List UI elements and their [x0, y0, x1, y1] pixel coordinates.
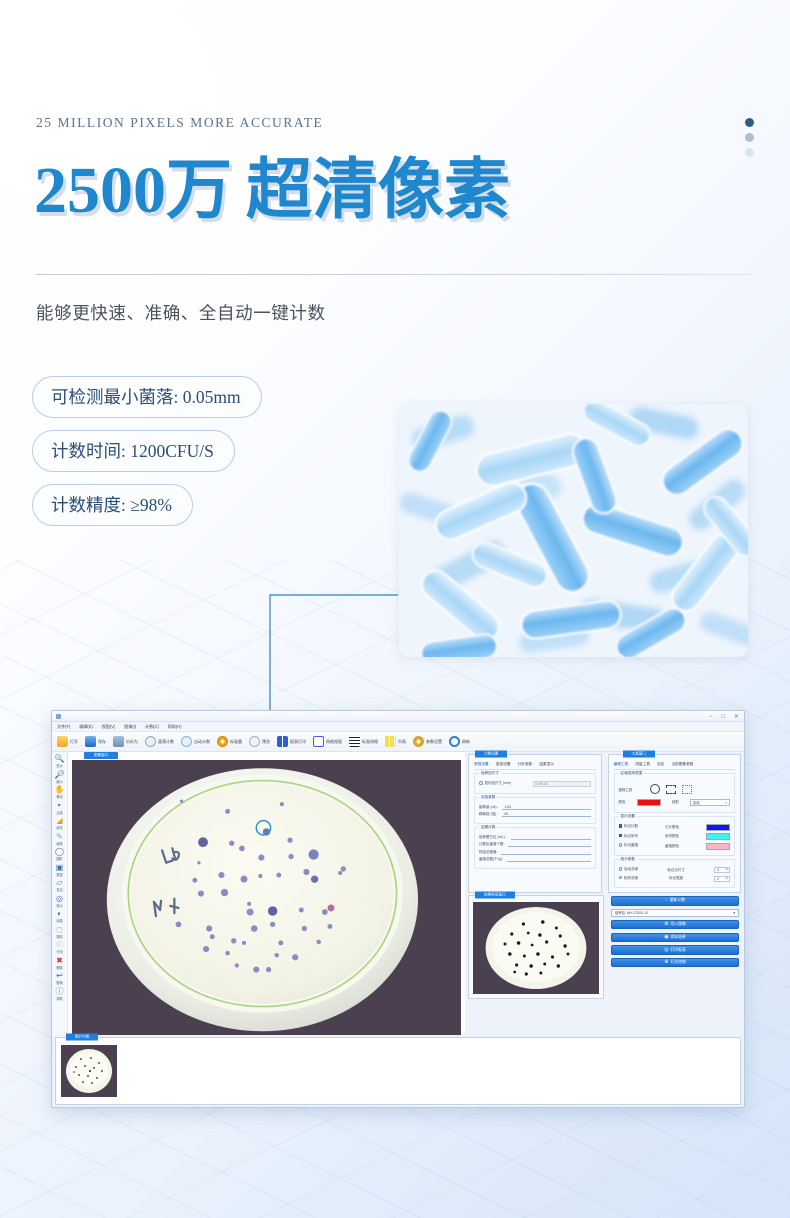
mark-size-stepper[interactable]: 3⇅ — [714, 867, 730, 873]
folder-open-icon — [57, 736, 68, 747]
save-icon: ◉ — [664, 935, 668, 940]
tool-label: 框选 — [53, 872, 67, 877]
tab-setting[interactable]: 设定 — [657, 762, 664, 767]
main-toolbar[interactable]: 打开 保存 另存为 菌落计数 自动计数 标准圆 预览 报表打印 网格视图 标准网… — [52, 732, 744, 752]
colony-zone-label: 计数区菌落个数: — [479, 842, 504, 847]
menu-item-count[interactable]: 计数(C) — [145, 724, 159, 730]
zoom-out-icon: 🔎 — [53, 771, 67, 779]
tool-help[interactable]: ⓘ帮助 — [53, 988, 67, 1001]
group-title: 培养皿尺寸 — [479, 771, 501, 776]
shape-tools[interactable] — [650, 784, 692, 794]
toolbar-label: 打开 — [70, 739, 78, 745]
line-color-label: 颜色 — [619, 800, 626, 805]
menu-item-file[interactable]: 文件(F) — [57, 724, 70, 730]
right-panel-column: 计数设置 常规设置 查找设置 分析参数 结果显示 培养皿尺寸 皿内径尺寸 (mm… — [465, 752, 744, 1035]
stepper-arrows-icon[interactable]: ⇅ — [725, 877, 728, 880]
panel-tools: 工具窗口 编辑工具 测量工具 设定 当前图像参数 区域选择范围 选择工具 — [608, 754, 742, 893]
tools-tabs[interactable]: 编辑工具 测量工具 设定 当前图像参数 — [614, 762, 736, 770]
chevron-down-icon: ▾ — [733, 911, 735, 915]
dilution-input[interactable]: 40 — [502, 812, 590, 817]
inoculation-label: 接种量 (ml) : — [479, 805, 498, 810]
stepper-arrows-icon[interactable]: ⇅ — [725, 868, 728, 871]
import-image-button[interactable]: ⚙导入图像 — [611, 920, 739, 930]
select-tool-label: 选择工具 — [619, 787, 633, 792]
settings-icon — [413, 736, 424, 747]
hand-icon: ✋ — [53, 786, 67, 794]
pencil-icon: ✎ — [53, 833, 67, 841]
panel-result-caption: 结果预览窗口 — [475, 892, 515, 899]
toolbar-button-refresh[interactable]: 刷新 — [449, 736, 470, 747]
rect-shape-icon[interactable] — [666, 785, 676, 794]
auto-denoise-option[interactable]: 自动去噪 — [619, 867, 639, 872]
feature-pill-list: 可检测最小菌落: 0.05mm 计数时间: 1200CFU/S 计数精度: ≥9… — [32, 376, 262, 538]
app-icon — [56, 714, 61, 719]
mesh-icon — [349, 736, 360, 747]
column-icon — [385, 736, 396, 747]
maximize-button[interactable]: □ — [721, 714, 725, 720]
feature-pill: 计数精度: ≥98% — [32, 484, 193, 526]
feature-pill: 可检测最小菌落: 0.05mm — [32, 376, 262, 418]
delete-icon: ✖ — [53, 957, 67, 965]
mark-index-option[interactable]: 标记序号 — [619, 834, 639, 839]
tab-analysis[interactable]: 分析参数 — [518, 762, 533, 767]
left-tool-palette[interactable]: 🔍放大 🔎缩小 ✋移动 ‣点选 ◢填充 ✎画笔 ◯圆形 ▣框选 ▱多边 ◎放大 … — [52, 752, 68, 1035]
sample-conc-label: 样品浓度值: — [479, 850, 497, 855]
toolbar-label: 参数设置 — [426, 739, 442, 745]
scan-icon: ◌ — [665, 898, 668, 903]
measure-icon: ◐ — [53, 910, 67, 918]
group-result-calc: 结果计算 培养基方位 (mL) : 计数区菌落个数: 样品浓度值: 菌落总数(个… — [474, 827, 596, 869]
processed-plate-icon — [473, 902, 599, 994]
tool-label: 测量 — [53, 918, 67, 923]
bacteria-rods-icon — [399, 404, 748, 657]
group-display-settings: 显示设置 标记计数 已计数色 标记序号 序号颜色 — [614, 816, 736, 857]
tool-label: 分割 — [53, 949, 67, 954]
print-report-button[interactable]: ◎打印报表 — [611, 945, 739, 955]
menu-bar[interactable]: 文件(F) 编辑(E) 视图(V) 图像(I) 计数(C) 帮助(H) — [52, 722, 744, 732]
preview-icon — [249, 736, 260, 747]
tool-label: 撤销 — [53, 980, 67, 985]
workspace: 🔍放大 🔎缩小 ✋移动 ‣点选 ◢填充 ✎画笔 ◯圆形 ▣框选 ▱多边 ◎放大 … — [52, 752, 744, 1035]
tool-label: 移动 — [53, 794, 67, 799]
counted-color-swatch[interactable] — [706, 824, 730, 831]
toolbar-label: 列表 — [398, 739, 406, 745]
medium-volume-label: 培养基方位 (mL) : — [479, 835, 507, 840]
dilution-label: 稀释倍 (倍) : — [479, 812, 498, 817]
grid-view-icon — [313, 736, 324, 747]
toolbar-label: 保存 — [98, 739, 106, 745]
toolbar-button-report[interactable]: 报表打印 — [277, 736, 306, 747]
medium-volume-input[interactable] — [511, 835, 591, 840]
auto-count-icon — [181, 736, 192, 747]
group-title: 区域选择范围 — [619, 771, 645, 776]
canvas-column: 图像窗口 — [68, 752, 465, 1035]
image-filmstrip[interactable]: 图片列表 — [55, 1037, 741, 1105]
checkbox-mark-index[interactable] — [619, 834, 623, 838]
header-divider — [36, 274, 752, 275]
tab-find[interactable]: 查找设置 — [496, 762, 511, 767]
group-statistics: 统计参数 自动去噪 标记点尺寸 3⇅ 相邻去噪 标记宽度 2⇅ — [614, 859, 736, 888]
headline-text: 超清像素 — [246, 154, 510, 227]
filmstrip-thumbnail[interactable] — [61, 1045, 117, 1097]
chevron-down-icon: ▾ — [725, 801, 727, 805]
group-dish-size: 培养皿尺寸 皿内径尺寸 (mm) D=90.00 — [474, 773, 596, 794]
inoculation-input[interactable]: 1.00 — [502, 805, 590, 810]
mark-count-option[interactable]: 标记计数 — [619, 824, 639, 829]
tool-label: 放大 — [53, 763, 67, 768]
action-button-stack[interactable]: ◌重新计数 培养皿: MH-CS200-10▾ ⚙导入图像 ◉保存结果 ◎打印报… — [607, 893, 743, 999]
magnify-icon: ◎ — [53, 895, 67, 903]
help-icon: ⓘ — [53, 988, 67, 996]
save-icon — [85, 736, 96, 747]
window-titlebar[interactable]: − □ ✕ — [52, 711, 744, 722]
total-colony-label: 菌落总数(个/g): — [479, 857, 503, 862]
tool-polygon[interactable]: ▱多边 — [53, 879, 67, 892]
undo-icon: ↩ — [53, 972, 67, 980]
toolbar-button-save[interactable]: 保存 — [85, 736, 106, 747]
index-color-label: 序号颜色 — [665, 834, 679, 839]
tool-zoom-in[interactable]: 🔍放大 — [53, 755, 67, 768]
toolbar-button-auto-count[interactable]: 自动计数 — [181, 736, 210, 747]
toolbar-button-standard-circle[interactable]: 标准圆 — [217, 736, 242, 747]
light-control-button[interactable]: ♛灯光控制 — [611, 958, 739, 968]
feature-pill: 计数时间: 1200CFU/S — [32, 430, 235, 472]
bulb-icon: ♛ — [664, 960, 668, 965]
tool-circle[interactable]: ◯圆形 — [53, 848, 67, 861]
tool-label: 删除 — [53, 965, 67, 970]
tool-label: 缩小 — [53, 779, 67, 784]
count-tabs[interactable]: 常规设置 查找设置 分析参数 结果显示 — [474, 762, 596, 770]
software-window[interactable]: − □ ✕ 文件(F) 编辑(E) 视图(V) 图像(I) 计数(C) 帮助(H… — [51, 710, 745, 1108]
tool-rect-select[interactable]: ▣框选 — [53, 864, 67, 877]
toolbar-label: 网格视图 — [326, 739, 342, 745]
dish-model-combo[interactable]: 培养皿: MH-CS200-10▾ — [611, 909, 739, 917]
tool-hand[interactable]: ✋移动 — [53, 786, 67, 799]
eraser-icon: ◻ — [53, 926, 67, 934]
settings-icon: ⚙ — [664, 922, 668, 927]
bacteria-illustration — [399, 404, 748, 657]
target-icon — [217, 736, 228, 747]
canvas-tab-label: 图像窗口 — [84, 752, 118, 759]
checkbox-mark-count[interactable] — [619, 824, 623, 828]
group-experiment: 实验参数 接种量 (ml) : 1.00 稀释倍 (倍) : 40 — [474, 797, 596, 824]
tool-label: 圆形 — [53, 856, 67, 861]
toolbar-label: 另存为 — [126, 739, 138, 745]
close-button[interactable]: ✕ — [734, 714, 739, 720]
tool-label: 多边 — [53, 887, 67, 892]
tab-general[interactable]: 常规设置 — [474, 762, 489, 767]
radio-adjacent-denoise[interactable] — [619, 876, 623, 880]
print-icon: ◎ — [664, 948, 668, 953]
result-preview-image[interactable] — [473, 902, 599, 994]
checkbox-mark-colony[interactable] — [619, 843, 623, 847]
point-icon: ‣ — [53, 802, 67, 810]
tool-label: 擦除 — [53, 934, 67, 939]
line-color-swatch[interactable] — [637, 799, 661, 806]
toolbar-label: 菌落计数 — [158, 739, 174, 745]
toolbar-label: 刷新 — [462, 739, 470, 745]
tool-fill[interactable]: ◢填充 — [53, 817, 67, 830]
tool-label: 填充 — [53, 825, 67, 830]
menu-item-edit[interactable]: 编辑(E) — [79, 724, 92, 730]
tool-label: 帮助 — [53, 996, 67, 1001]
report-icon — [277, 736, 288, 747]
adjacent-denoise-option[interactable]: 相邻去噪 — [619, 876, 639, 881]
tool-zoom-out[interactable]: 🔎缩小 — [53, 771, 67, 784]
tool-eraser[interactable]: ◻擦除 — [53, 926, 67, 939]
mark-width-stepper[interactable]: 2⇅ — [714, 876, 730, 882]
group-title: 实验参数 — [479, 795, 497, 800]
tool-magnify[interactable]: ◎放大 — [53, 895, 67, 908]
toolbar-button-colony-count[interactable]: 菌落计数 — [145, 736, 174, 747]
canvas-tab[interactable]: 图像窗口 — [68, 752, 465, 759]
rect-select-icon: ▣ — [53, 864, 67, 872]
toolbar-button-grid-view[interactable]: 网格视图 — [313, 736, 342, 747]
dish-diameter-value[interactable]: D=90.00 — [533, 781, 591, 787]
save-result-button[interactable]: ◉保存结果 — [611, 933, 739, 943]
line-type-select[interactable]: 实线▾ — [690, 799, 730, 806]
eyebrow-text: 25 MILLION PIXELS MORE ACCURATE — [36, 115, 323, 131]
window-controls[interactable]: − □ ✕ — [709, 714, 739, 720]
colony-count-icon — [145, 736, 156, 747]
toolbar-button-list[interactable]: 列表 — [385, 736, 406, 747]
polygon-shape-icon[interactable] — [682, 785, 692, 794]
colony-color-swatch[interactable] — [706, 843, 730, 850]
plate-image-main[interactable] — [72, 760, 461, 1035]
canvas-wrapper[interactable] — [68, 759, 465, 1037]
menu-item-image[interactable]: 图像(I) — [124, 724, 136, 730]
tool-delete[interactable]: ✖删除 — [53, 957, 67, 970]
toolbar-label: 标准网格 — [362, 739, 378, 745]
toolbar-label: 预览 — [262, 739, 270, 745]
toolbar-button-preview[interactable]: 预览 — [249, 736, 270, 747]
group-title: 结果计算 — [479, 825, 497, 830]
pager-dot-3[interactable] — [745, 148, 754, 157]
toolbar-button-settings[interactable]: 参数设置 — [413, 736, 442, 747]
pager-dots[interactable] — [745, 118, 754, 163]
circle-shape-icon[interactable] — [650, 784, 660, 794]
panel-result-preview: 结果预览窗口 — [468, 895, 604, 999]
counted-color-label: 已计数色 — [665, 825, 679, 830]
recount-button[interactable]: ◌重新计数 — [611, 896, 739, 906]
zoom-in-icon: 🔍 — [53, 755, 67, 763]
mark-width-label: 标记宽度 — [669, 876, 683, 881]
toolbar-label: 报表打印 — [290, 739, 306, 745]
group-title: 统计参数 — [619, 857, 637, 862]
menu-item-view[interactable]: 视图(V) — [102, 724, 115, 730]
line-type-label: 线型 — [672, 800, 679, 805]
tool-undo[interactable]: ↩撤销 — [53, 972, 67, 985]
panel-count-settings: 计数设置 常规设置 查找设置 分析参数 结果显示 培养皿尺寸 皿内径尺寸 (mm… — [468, 754, 602, 893]
divider-icon: ☉ — [53, 941, 67, 949]
save-as-icon — [113, 736, 124, 747]
colony-color-label: 菌落颜色 — [665, 844, 679, 849]
mark-colony-option[interactable]: 标记菌落 — [619, 843, 639, 848]
tool-label: 点选 — [53, 810, 67, 815]
petri-dish-image — [72, 760, 461, 1035]
tab-result[interactable]: 结果显示 — [539, 762, 554, 767]
group-region-select: 区域选择范围 选择工具 颜色 — [614, 773, 736, 813]
pager-dot-1[interactable] — [745, 118, 754, 127]
toolbar-button-save-as[interactable]: 另存为 — [113, 736, 138, 747]
mark-size-label: 标记点尺寸 — [667, 868, 685, 873]
index-color-swatch[interactable] — [706, 833, 730, 840]
refresh-icon — [449, 736, 460, 747]
tab-edit-tools[interactable]: 编辑工具 — [614, 762, 629, 767]
toolbar-label: 自动计数 — [194, 739, 210, 745]
pager-dot-2[interactable] — [745, 133, 754, 142]
panel-count-caption: 计数设置 — [475, 751, 507, 758]
filmstrip-caption: 图片列表 — [66, 1034, 98, 1041]
page-title: 2500万超清像素 — [34, 158, 510, 224]
toolbar-button-mesh[interactable]: 标准网格 — [349, 736, 378, 747]
tool-pencil[interactable]: ✎画笔 — [53, 833, 67, 846]
tool-label: 画笔 — [53, 841, 67, 846]
radio-auto-denoise[interactable] — [619, 867, 623, 871]
tool-measure[interactable]: ◐测量 — [53, 910, 67, 923]
panel-tools-caption: 工具窗口 — [623, 751, 655, 758]
total-colony-input[interactable] — [507, 857, 591, 862]
tab-measure-tools[interactable]: 测量工具 — [635, 762, 650, 767]
plate-thumbnail-icon — [61, 1045, 117, 1097]
menu-item-help[interactable]: 帮助(H) — [168, 724, 182, 730]
tab-image-params[interactable]: 当前图像参数 — [671, 762, 693, 767]
fill-icon: ◢ — [53, 817, 67, 825]
polygon-icon: ▱ — [53, 879, 67, 887]
subheadline: 能够更快速、准确、全自动一键计数 — [36, 300, 326, 325]
tool-point[interactable]: ‣点选 — [53, 802, 67, 815]
toolbar-label: 标准圆 — [230, 739, 242, 745]
headline-number: 2500万 — [34, 154, 232, 227]
radio-dish-diameter[interactable] — [479, 781, 483, 785]
circle-icon: ◯ — [53, 848, 67, 856]
toolbar-button-open[interactable]: 打开 — [57, 736, 78, 747]
tool-divider[interactable]: ☉分割 — [53, 941, 67, 954]
group-title: 显示设置 — [619, 814, 637, 819]
minimize-button[interactable]: − — [709, 714, 713, 720]
colony-zone-input[interactable] — [508, 842, 590, 847]
sample-conc-input[interactable] — [501, 850, 590, 855]
tool-label: 放大 — [53, 903, 67, 908]
dish-diameter-label[interactable]: 皿内径尺寸 (mm) — [479, 781, 511, 786]
